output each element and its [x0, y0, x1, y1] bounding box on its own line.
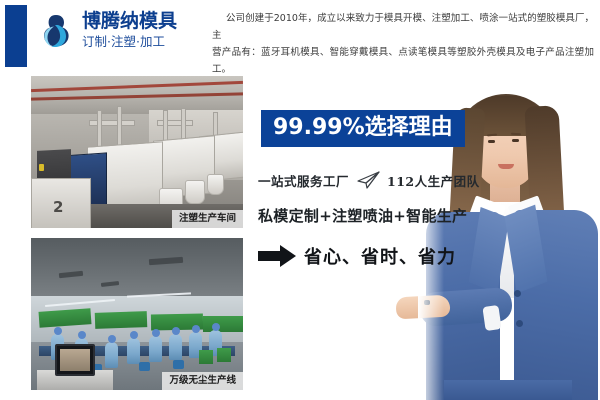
machine-indicator-light: [39, 164, 44, 171]
workstation-panel: [95, 311, 148, 329]
paper-plane-icon: [355, 170, 381, 190]
model-shirt-cuff: [482, 305, 501, 331]
features-text: 私模定制+注塑喷油+智能生产: [258, 207, 467, 225]
worker: [149, 336, 162, 362]
stats-row: 一站式服务工厂 112人生产团队: [258, 170, 480, 190]
logo-text-block: 博腾纳模具 订制·注塑·加工: [82, 10, 194, 51]
model-blazer-button: [514, 290, 521, 297]
robot-column: [181, 108, 186, 140]
parts-bin: [199, 350, 213, 364]
worker: [105, 342, 118, 368]
model-skirt: [444, 380, 572, 400]
logo-title: 博腾纳模具: [82, 10, 194, 32]
benefit-text: 省心、省时、省力: [304, 243, 456, 269]
robot-column: [163, 110, 168, 142]
parts-bin: [217, 348, 231, 362]
stool: [173, 360, 184, 369]
robot-arm: [89, 120, 135, 126]
header-accent-bar: [5, 5, 27, 67]
right-arrow-icon: [258, 245, 296, 267]
cleanroom-ceiling: [31, 238, 243, 300]
benefit-row: 省心、省时、省力: [258, 243, 456, 269]
model-blazer-button: [516, 320, 523, 327]
workstation-panel: [203, 316, 243, 332]
stat-team-size: 112人生产团队: [387, 171, 480, 190]
botengna-droplet-logo-icon: [34, 12, 78, 56]
robot-column: [97, 110, 102, 148]
material-bucket: [185, 180, 205, 204]
model-eye: [488, 140, 495, 143]
photo-cleanroom-production-line[interactable]: 万级无尘生产线: [31, 238, 243, 390]
headline-banner-text: 99.99%选择理由: [273, 115, 453, 141]
logo-subtitle: 订制·注塑·加工: [82, 33, 194, 51]
machine-number-label: 2: [53, 198, 63, 216]
photo-injection-molding-workshop[interactable]: 2 注塑生产车间: [31, 76, 243, 228]
material-bucket: [207, 174, 224, 195]
company-intro: 公司创建于2010年，成立以来致力于模具开模、注塑加工、喷涂一站式的塑胶模具厂，…: [212, 10, 594, 78]
page-header: 博腾纳模具 订制·注塑·加工 公司创建于2010年，成立以来致力于模具开模、注塑…: [0, 0, 600, 68]
features-row: 私模定制+注塑喷油+智能生产: [258, 205, 467, 226]
stat-one-stop-service: 一站式服务工厂: [258, 171, 349, 190]
photo-caption-cleanroom: 万级无尘生产线: [162, 372, 243, 390]
stool: [139, 362, 150, 371]
company-logo[interactable]: 博腾纳模具 订制·注塑·加工: [34, 8, 194, 60]
worker: [169, 334, 182, 360]
company-intro-line-2: 营产品有：蓝牙耳机模具、智能穿戴模具、点读笔模具等塑胶外壳模具及电子产品注塑加工…: [212, 44, 594, 78]
computer-monitor: [55, 344, 95, 376]
model-eye: [512, 139, 519, 142]
company-intro-line-1: 公司创建于2010年，成立以来致力于模具开模、注塑加工、喷涂一站式的塑胶模具厂，…: [212, 10, 594, 44]
model-open-palm-hand: [395, 295, 450, 320]
model-mouth: [498, 164, 514, 169]
model-ring: [424, 300, 430, 305]
worker: [127, 338, 140, 364]
headline-banner: 99.99%选择理由: [261, 110, 465, 147]
promo-banner-page: 博腾纳模具 订制·注塑·加工 公司创建于2010年，成立以来致力于模具开模、注塑…: [0, 0, 600, 400]
photo-caption-workshop: 注塑生产车间: [172, 210, 243, 228]
robot-column: [117, 106, 122, 148]
